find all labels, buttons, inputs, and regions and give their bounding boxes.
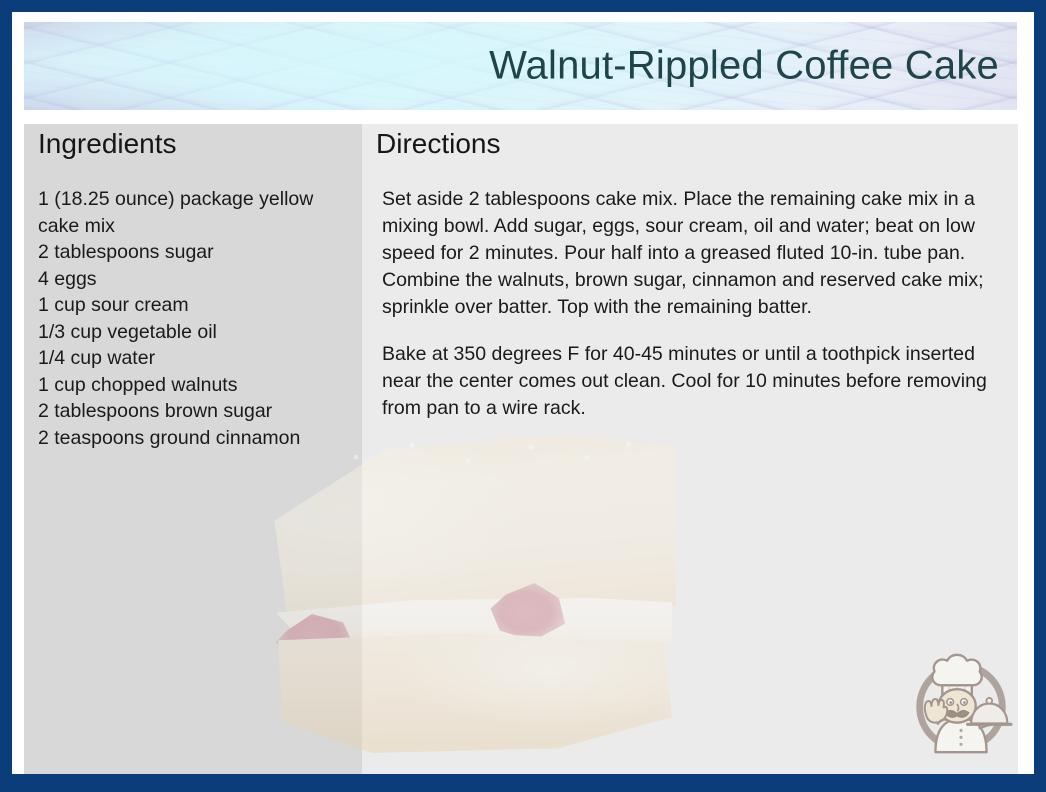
- directions-panel: Directions Set aside 2 tablespoons cake …: [362, 124, 1018, 774]
- list-item: 1 cup chopped walnuts: [38, 372, 352, 399]
- directions-body: Set aside 2 tablespoons cake mix. Place …: [362, 164, 1018, 774]
- title-banner: Walnut-Rippled Coffee Cake: [24, 22, 1017, 110]
- directions-tab: Directions: [362, 124, 558, 164]
- list-item: 2 tablespoons sugar: [38, 239, 352, 266]
- recipe-page: Walnut-Rippled Coffee Cake Ingredients 1…: [12, 12, 1034, 774]
- ingredients-tab: Ingredients: [24, 124, 214, 164]
- recipe-title: Walnut-Rippled Coffee Cake: [489, 44, 999, 89]
- directions-paragraph: Set aside 2 tablespoons cake mix. Place …: [382, 186, 996, 321]
- list-item: 1 cup sour cream: [38, 292, 352, 319]
- list-item: 1/4 cup water: [38, 345, 352, 372]
- list-item: 1/3 cup vegetable oil: [38, 319, 352, 346]
- ingredients-panel: Ingredients 1 (18.25 ounce) package yell…: [24, 124, 368, 774]
- recipe-card: Walnut-Rippled Coffee Cake Ingredients 1…: [0, 0, 1046, 792]
- directions-paragraph: Bake at 350 degrees F for 40-45 minutes …: [382, 341, 996, 422]
- list-item: 1 (18.25 ounce) package yellow cake mix: [38, 186, 352, 239]
- ingredients-body: 1 (18.25 ounce) package yellow cake mix …: [24, 164, 368, 774]
- directions-heading: Directions: [376, 128, 500, 160]
- list-item: 2 teaspoons ground cinnamon: [38, 425, 352, 452]
- list-item: 4 eggs: [38, 266, 352, 293]
- ingredients-heading: Ingredients: [38, 128, 177, 160]
- ingredients-list: 1 (18.25 ounce) package yellow cake mix …: [38, 186, 352, 451]
- list-item: 2 tablespoons brown sugar: [38, 398, 352, 425]
